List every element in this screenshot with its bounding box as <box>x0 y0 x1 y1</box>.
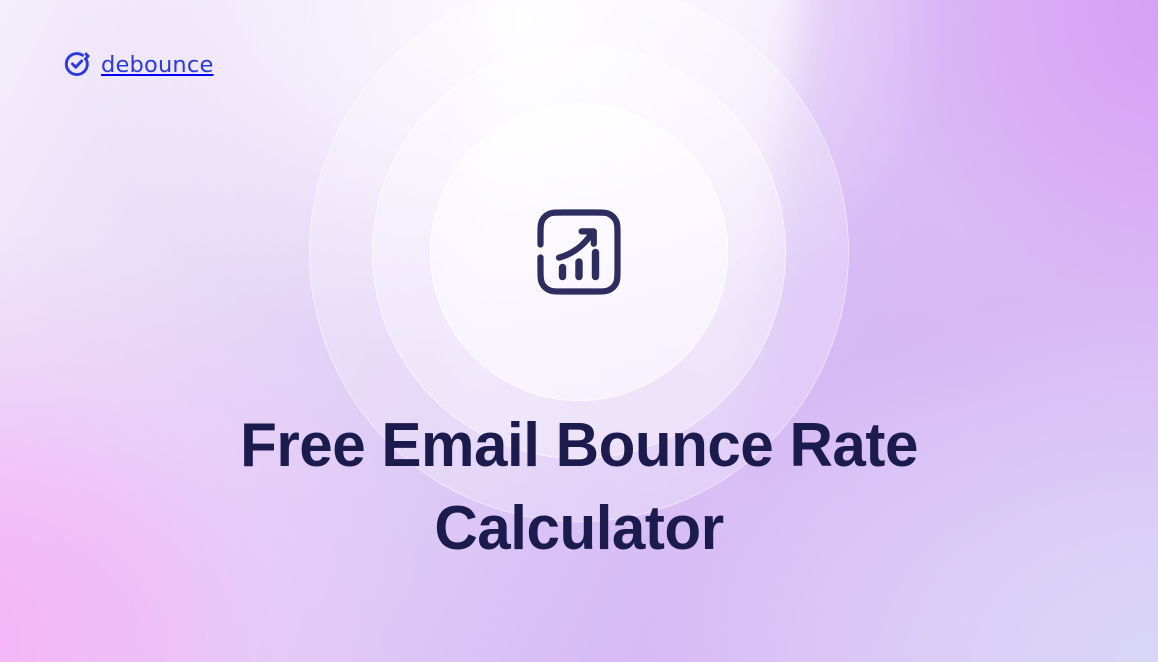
page-title: Free Email Bounce Rate Calculator <box>17 404 1140 570</box>
brand-logo[interactable]: debounce <box>62 50 214 80</box>
bar-chart-growth-icon <box>531 204 627 300</box>
page-title-line-1: Free Email Bounce Rate <box>17 404 1140 487</box>
page-title-line-2: Calculator <box>17 487 1140 570</box>
brand-name: debounce <box>101 54 214 77</box>
circle-check-badge-icon <box>62 50 92 80</box>
hero-banner: debounce Free Email Bounce Rate Calculat… <box>0 0 1158 662</box>
